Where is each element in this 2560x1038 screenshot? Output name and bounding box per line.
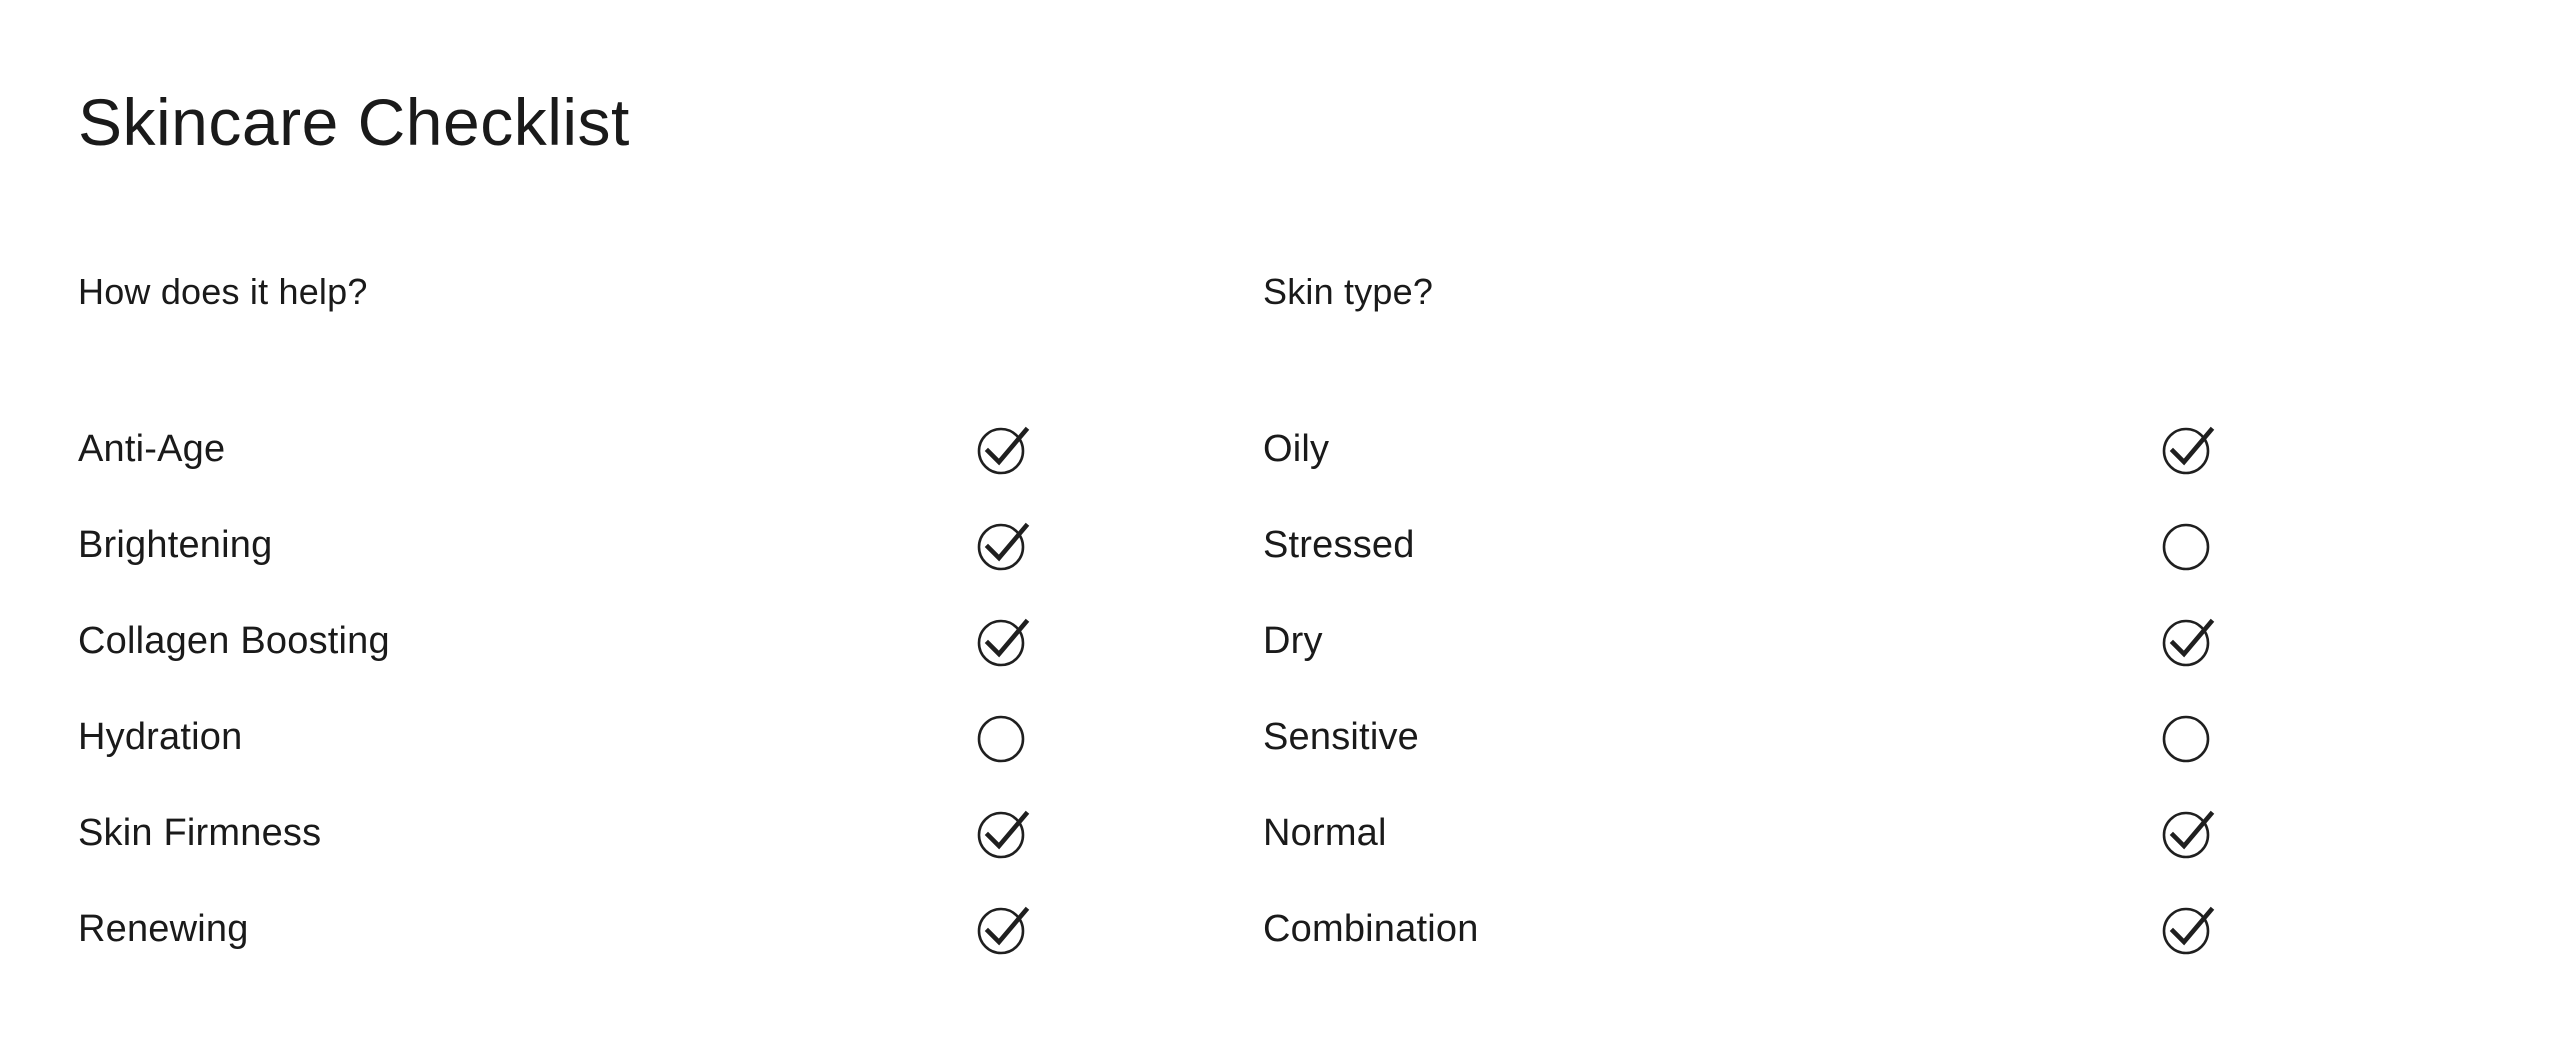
check-circle-icon[interactable] xyxy=(972,612,1032,672)
list-item-label: Brightening xyxy=(78,525,272,567)
list-item-label: Dry xyxy=(1263,621,1323,663)
check-circle-icon[interactable] xyxy=(2157,612,2217,672)
list-item[interactable]: Brightening xyxy=(78,498,1088,594)
list-item[interactable]: Oily xyxy=(1263,402,2273,498)
list-item[interactable]: Sensitive xyxy=(1263,690,2273,786)
list-item-label: Combination xyxy=(1263,909,1479,951)
list-item[interactable]: Dry xyxy=(1263,594,2273,690)
checklist-how-does-it-help: Anti-Age Brightening xyxy=(78,402,1088,978)
empty-circle-icon[interactable] xyxy=(2157,516,2217,576)
skincare-checklist-page: Skincare Checklist How does it help? Ant… xyxy=(0,0,2560,1038)
list-item-label: Collagen Boosting xyxy=(78,621,390,663)
list-item-label: Sensitive xyxy=(1263,717,1419,759)
list-item-label: Oily xyxy=(1263,429,1329,471)
check-circle-icon[interactable] xyxy=(2157,804,2217,864)
list-item[interactable]: Collagen Boosting xyxy=(78,594,1088,690)
list-item-label: Stressed xyxy=(1263,525,1415,567)
column-how-does-it-help: How does it help? Anti-Age Brightening xyxy=(78,272,1088,892)
list-item[interactable]: Skin Firmness xyxy=(78,786,1088,882)
column-skin-type: Skin type? Oily Stressed xyxy=(1263,272,2273,892)
list-item[interactable]: Anti-Age xyxy=(78,402,1088,498)
list-item[interactable]: Combination xyxy=(1263,882,2273,978)
list-item-label: Anti-Age xyxy=(78,429,225,471)
list-item[interactable]: Stressed xyxy=(1263,498,2273,594)
check-circle-icon[interactable] xyxy=(972,420,1032,480)
check-circle-icon[interactable] xyxy=(2157,420,2217,480)
list-item[interactable]: Normal xyxy=(1263,786,2273,882)
check-circle-icon[interactable] xyxy=(972,804,1032,864)
check-circle-icon[interactable] xyxy=(972,900,1032,960)
checklist-skin-type: Oily Stressed xyxy=(1263,402,2273,978)
list-item-label: Hydration xyxy=(78,717,242,759)
list-item[interactable]: Renewing xyxy=(78,882,1088,978)
list-item[interactable]: Hydration xyxy=(78,690,1088,786)
column-header-how-does-it-help: How does it help? xyxy=(78,272,1088,316)
column-header-skin-type: Skin type? xyxy=(1263,272,2273,316)
page-title: Skincare Checklist xyxy=(78,88,630,157)
list-item-label: Normal xyxy=(1263,813,1387,855)
check-circle-icon[interactable] xyxy=(972,516,1032,576)
check-circle-icon[interactable] xyxy=(2157,900,2217,960)
list-item-label: Renewing xyxy=(78,909,249,951)
empty-circle-icon[interactable] xyxy=(972,708,1032,768)
list-item-label: Skin Firmness xyxy=(78,813,321,855)
empty-circle-icon[interactable] xyxy=(2157,708,2217,768)
